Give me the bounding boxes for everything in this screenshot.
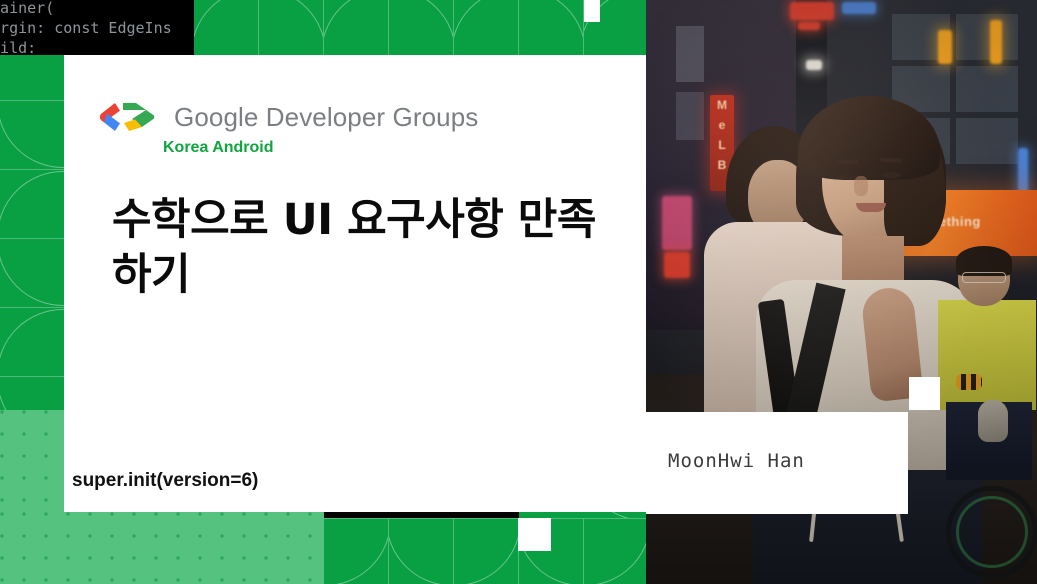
speaker-name-card: MoonHwi Han (646, 412, 908, 514)
green-tile (324, 518, 389, 584)
gdg-chapter-name: Korea Android (163, 139, 274, 157)
green-tile (259, 0, 324, 55)
green-tile (454, 518, 519, 584)
white-notch-square-bottom (518, 518, 551, 551)
slide-footer-label: super.init(version=6) (72, 470, 258, 492)
white-notch-square-top (584, 0, 600, 22)
green-tile (519, 0, 584, 55)
green-tile (0, 169, 64, 238)
presentation-slide: ntainer( margin: const EdgeIns child: la… (0, 0, 1037, 584)
green-tile (0, 376, 64, 410)
slide-title: 수학으로 UI 요구사항 만족하기 (112, 193, 612, 303)
dot-pattern-band-bottom (0, 512, 324, 584)
green-tile (389, 0, 454, 55)
white-notch-square-photo (909, 377, 940, 410)
green-tile (194, 0, 259, 55)
green-tile (0, 307, 64, 376)
gdg-chevron-icon (98, 100, 160, 134)
speaker-name: MoonHwi Han (668, 450, 805, 472)
title-card: Google Developer Groups Korea Android 수학… (64, 55, 646, 512)
green-tile (389, 518, 454, 584)
green-tile (324, 0, 389, 55)
gdg-logo: Google Developer Groups (98, 100, 478, 134)
green-tile (0, 100, 64, 169)
green-tile (0, 55, 64, 100)
green-tile (584, 518, 646, 584)
green-tile (0, 238, 64, 307)
green-tile (454, 0, 519, 55)
gdg-wordmark: Google Developer Groups (174, 102, 478, 133)
